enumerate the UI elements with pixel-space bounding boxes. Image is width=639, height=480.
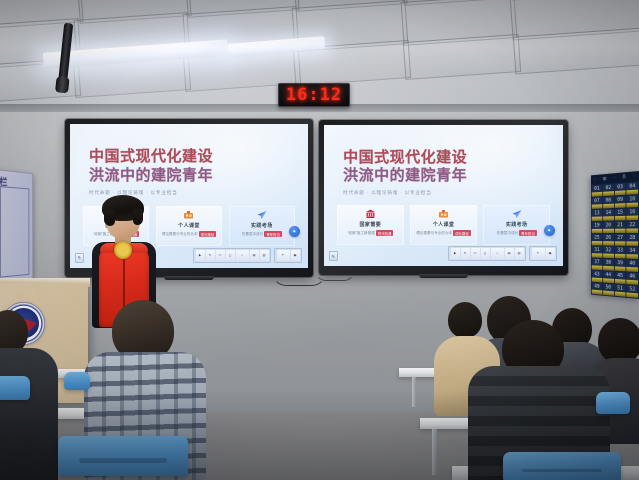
key-slot[interactable]: 34: [627, 247, 639, 259]
key-slot[interactable]: 44: [603, 271, 614, 283]
key-slot[interactable]: 07: [592, 197, 602, 209]
pen-tool-icon[interactable]: ✎: [329, 251, 338, 261]
toolbar-note-button[interactable]: ▤: [250, 250, 259, 261]
slide-title-line1: 中国式现代化建设: [343, 148, 467, 166]
slide-title-line2: 洪流中的建院青年: [343, 166, 467, 185]
toolbar-shape-button[interactable]: ◻: [226, 250, 235, 261]
slide-card-desc: 理论根基与专业的为本: [416, 231, 452, 236]
toolbar-laser-button[interactable]: •: [491, 248, 504, 259]
bulletin-board-frame: [0, 186, 29, 277]
numbered-key-cabinet: · 甲 · B · 01 02 03 04 07 08 09 10 13 14 …: [591, 171, 639, 299]
slide-card-badge: 青年担当: [264, 231, 282, 237]
key-slot[interactable]: 20: [603, 222, 614, 234]
key-slot[interactable]: 40: [627, 260, 639, 272]
key-slot[interactable]: 15: [615, 209, 626, 221]
slide-card-desc-row: 理论根基与专业的为本 成长路径: [416, 230, 471, 236]
slide-title-line2: 洪流中的建院青年: [89, 166, 213, 185]
bank-building-icon: [365, 209, 376, 219]
paper-plane-icon: [256, 210, 267, 220]
slide-card-title: 个人课堂: [433, 221, 455, 228]
kb-header-cell: ·: [633, 173, 635, 179]
slide-card-desc-row: 理论根基与专业的为本 成长路径: [162, 231, 217, 237]
wall-digital-clock: 16:12: [278, 83, 350, 107]
interactive-display-right[interactable]: 中国式现代化建设 洪流中的建院青年 时代命题 · 以理论铸魂 · 以专业担当 国…: [319, 120, 568, 275]
toolbar-undo-button[interactable]: ↶: [277, 250, 290, 261]
chair-left-1[interactable]: [58, 436, 188, 476]
key-slot[interactable]: 45: [615, 272, 626, 284]
slide-card-title: 个人课堂: [178, 222, 200, 229]
key-slot[interactable]: 50: [603, 283, 614, 295]
audience-head: [448, 302, 482, 338]
ai-assistant-icon[interactable]: ✦: [544, 225, 555, 236]
key-slot[interactable]: 28: [627, 234, 639, 246]
key-slot[interactable]: 46: [627, 272, 639, 285]
slide-card-desc: “双碳”施工新基建: [347, 231, 375, 236]
paper-plane-icon: [511, 209, 522, 219]
key-slot[interactable]: 52: [627, 285, 639, 298]
slide-card-badge: 成长路径: [453, 230, 471, 236]
desk-leg: [432, 429, 437, 475]
key-slot[interactable]: 10: [627, 195, 639, 207]
pen-tool-icon[interactable]: ✎: [75, 253, 84, 263]
key-slot[interactable]: 51: [615, 284, 626, 297]
key-slot[interactable]: 26: [603, 234, 614, 246]
display-cable-2: [315, 270, 355, 281]
slide-card-desc-row: 在基层中成长 青年担当: [242, 231, 282, 237]
key-slot[interactable]: 25: [592, 234, 602, 245]
slide-card-row: 国家需要 “双碳”施工新基建 时代机遇 个人课堂 理论根基与专业的为本 成长路径: [337, 205, 550, 245]
clock-time: 16:12: [286, 85, 342, 105]
toolbar-eraser-button[interactable]: ▭: [216, 250, 225, 261]
toolbar-group-secondary[interactable]: ↶ ▣: [529, 246, 557, 261]
slide-card-badge: 青年担当: [519, 230, 537, 236]
key-slot[interactable]: 09: [615, 196, 626, 208]
key-slot[interactable]: 27: [615, 234, 626, 246]
id-badge-icon: [438, 209, 449, 219]
key-slot[interactable]: 22: [627, 221, 639, 233]
slide-card-desc: 在基层中成长: [242, 232, 264, 237]
id-badge-icon: [183, 210, 194, 220]
slide-card-title: 实践考场: [506, 221, 528, 228]
slide-card-badge: 时代机遇: [376, 230, 394, 236]
slide-subtitle: 时代命题 · 以理论铸魂 · 以专业担当: [343, 190, 431, 196]
key-slot[interactable]: 13: [592, 209, 602, 221]
presenter-hair: [102, 195, 144, 221]
toolbar-page-button[interactable]: ▥: [515, 248, 524, 259]
slide-title: 中国式现代化建设 洪流中的建院青年: [89, 147, 213, 185]
slide-card-2[interactable]: 个人课堂 理论根基与专业的为本 成长路径: [156, 206, 222, 246]
toolbar-group-primary[interactable]: ▶ ✎ ▭ ◻ • ▤ ▥: [193, 248, 271, 263]
desk-leg: [412, 377, 416, 407]
key-slot[interactable]: 37: [592, 258, 602, 270]
slide-title: 中国式现代化建设 洪流中的建院青年: [343, 148, 467, 186]
toolbar-shape-button[interactable]: ◻: [481, 248, 490, 259]
key-slot[interactable]: 03: [615, 183, 626, 195]
ai-assistant-icon[interactable]: ✦: [289, 226, 300, 237]
kb-header-cell: ·: [594, 177, 596, 183]
key-slot[interactable]: 38: [603, 259, 614, 271]
toolbar-page-button[interactable]: ▥: [260, 250, 269, 261]
slide-card-3[interactable]: 实践考场 在基层中成长 青年担当: [483, 205, 549, 245]
slide-toolbar[interactable]: ▶ ✎ ▭ ◻ • ▤ ▥ ↶ ▣: [448, 246, 557, 261]
toolbar-pen-button[interactable]: ✎: [206, 250, 215, 261]
kb-header-cell: ·: [614, 175, 616, 181]
kb-header-cell: 甲: [602, 175, 607, 182]
key-slot[interactable]: 21: [615, 221, 626, 233]
toolbar-pointer-button[interactable]: ▶: [196, 250, 205, 261]
key-slot[interactable]: 01: [592, 185, 602, 197]
chair-left-3[interactable]: [64, 372, 90, 390]
key-slot[interactable]: 19: [592, 222, 602, 233]
toolbar-group-secondary[interactable]: ↶ ▣: [274, 248, 302, 263]
toolbar-group-primary[interactable]: ▶ ✎ ▭ ◻ • ▤ ▥: [448, 246, 526, 261]
chair-right-1[interactable]: [596, 392, 630, 414]
slide-card-1[interactable]: 国家需要 “双碳”施工新基建 时代机遇: [337, 205, 403, 245]
audience-body: [0, 348, 58, 480]
slide-card-desc: 在基层中成长: [497, 231, 519, 236]
slide-card-desc-row: 在基层中成长 青年担当: [497, 230, 537, 236]
slide-toolbar[interactable]: ▶ ✎ ▭ ◻ • ▤ ▥ ↶ ▣: [193, 248, 302, 263]
key-cabinet-grid: 01 02 03 04 07 08 09 10 13 14 15 16 19 2…: [591, 181, 639, 299]
slide-card-3[interactable]: 实践考场 在基层中成长 青年担当: [229, 206, 295, 246]
key-slot[interactable]: 04: [627, 182, 639, 195]
toolbar-save-button[interactable]: ▣: [291, 250, 300, 261]
slide-card-title: 实践考场: [251, 222, 273, 229]
slide-card-desc: 理论根基与专业的为本: [162, 232, 198, 237]
slide-card-title: 国家需要: [360, 221, 382, 228]
volunteer-circle-emblem: [114, 241, 132, 259]
presentation-slide-right[interactable]: 中国式现代化建设 洪流中的建院青年 时代命题 · 以理论铸魂 · 以专业担当 国…: [324, 125, 563, 266]
key-slot[interactable]: 02: [603, 184, 614, 196]
key-slot[interactable]: 16: [627, 208, 639, 220]
key-slot[interactable]: 32: [603, 246, 614, 258]
classroom-scene: 16:12 誉栏 · 甲 · B · 01 02 03 04 07 08 09 …: [0, 0, 639, 480]
chair-center-1[interactable]: [503, 452, 621, 480]
slide-card-2[interactable]: 个人课堂 理论根基与专业的为本 成长路径: [410, 205, 476, 245]
key-slot[interactable]: 43: [592, 270, 602, 282]
key-slot[interactable]: 14: [603, 209, 614, 221]
slide-card-badge: 成长路径: [199, 231, 217, 237]
toolbar-undo-button[interactable]: ↶: [532, 248, 545, 259]
toolbar-eraser-button[interactable]: ▭: [471, 248, 480, 259]
toolbar-pen-button[interactable]: ✎: [461, 248, 470, 259]
key-slot[interactable]: 33: [615, 247, 626, 259]
slide-card-desc-row: “双碳”施工新基建 时代机遇: [347, 230, 393, 236]
kb-header-cell: B: [623, 174, 626, 180]
key-slot[interactable]: 31: [592, 246, 602, 258]
key-slot[interactable]: 08: [603, 196, 614, 208]
toolbar-note-button[interactable]: ▤: [505, 248, 514, 259]
toolbar-pointer-button[interactable]: ▶: [451, 248, 460, 259]
slide-subtitle: 时代命题 · 以理论铸魂 · 以专业担当: [89, 190, 177, 196]
slide-title-line1: 中国式现代化建设: [89, 147, 213, 165]
chair-left-2[interactable]: [0, 376, 30, 400]
wall-bulletin-board: 誉栏: [0, 168, 33, 286]
toolbar-laser-button[interactable]: •: [236, 250, 249, 261]
toolbar-save-button[interactable]: ▣: [546, 248, 555, 259]
key-slot[interactable]: 49: [592, 283, 602, 295]
key-slot[interactable]: 39: [615, 259, 626, 271]
